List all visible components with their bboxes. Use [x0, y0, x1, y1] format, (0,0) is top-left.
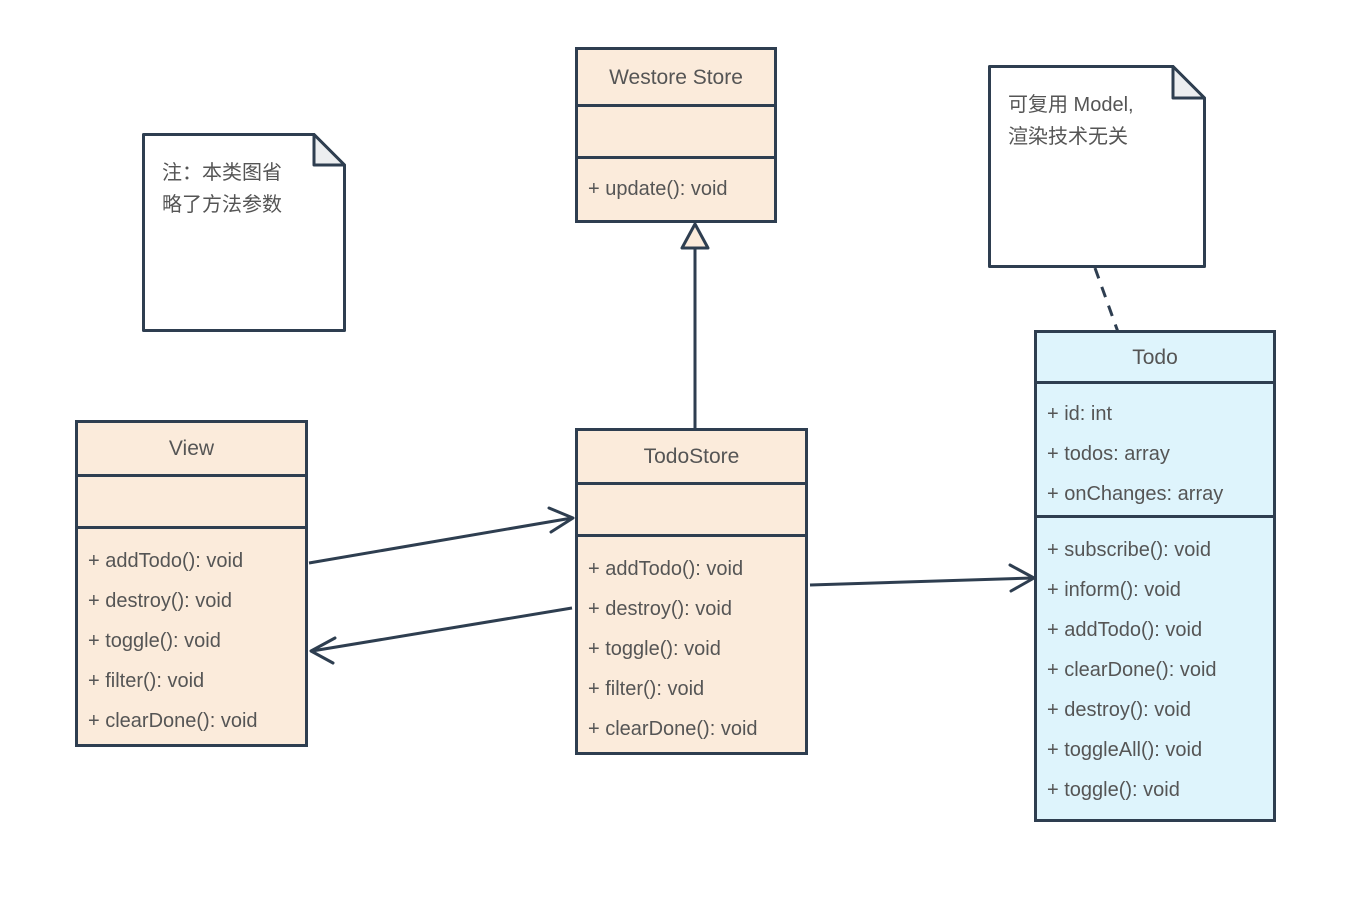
method-item: + addTodo(): void: [88, 541, 305, 581]
note-left-text: 注：本类图省 略了方法参数: [162, 157, 332, 221]
method-list: + addTodo(): void + destroy(): void + to…: [78, 529, 305, 753]
method-item: + toggleAll(): void: [1047, 730, 1273, 770]
open-arrowhead: [549, 508, 573, 532]
class-title-todostore: TodoStore: [578, 431, 805, 485]
class-title-todo: Todo: [1037, 333, 1273, 384]
class-box-westore-store[interactable]: Westore Store + update(): void: [575, 47, 777, 223]
diagram-canvas: 注：本类图省 略了方法参数 可复用 Model, 渲染技术无关 Westore …: [0, 0, 1358, 900]
class-methods-westore-store: + update(): void: [578, 159, 774, 220]
method-item: + subscribe(): void: [1047, 530, 1273, 570]
method-list: + addTodo(): void + destroy(): void + to…: [578, 537, 805, 761]
class-title-view: View: [78, 423, 305, 477]
class-attributes-view: [78, 477, 305, 529]
method-item: + inform(): void: [1047, 570, 1273, 610]
method-item: + filter(): void: [88, 661, 305, 701]
note-right-text: 可复用 Model, 渲染技术无关: [1008, 89, 1192, 153]
connector-todostore-to-todo: [810, 565, 1034, 591]
class-attributes-westore-store: [578, 107, 774, 159]
method-item: + destroy(): void: [88, 581, 305, 621]
note-left: 注：本类图省 略了方法参数: [142, 133, 346, 332]
method-item: + addTodo(): void: [1047, 610, 1273, 650]
connector-generalization-todostore-westore: [682, 224, 708, 428]
attribute-item: + todos: array: [1047, 434, 1273, 474]
method-item: + toggle(): void: [1047, 770, 1273, 810]
method-list: + update(): void: [578, 159, 774, 221]
method-list: + subscribe(): void + inform(): void + a…: [1037, 518, 1273, 822]
method-item: + clearDone(): void: [88, 701, 305, 741]
attribute-list: + id: int + todos: array + onChanges: ar…: [1037, 384, 1273, 526]
class-box-todo[interactable]: Todo + id: int + todos: array + onChange…: [1034, 330, 1276, 822]
class-methods-todostore: + addTodo(): void + destroy(): void + to…: [578, 537, 805, 752]
attribute-item: + id: int: [1047, 394, 1273, 434]
open-arrowhead: [311, 638, 335, 663]
class-attributes-todostore: [578, 485, 805, 537]
method-item: + clearDone(): void: [1047, 650, 1273, 690]
method-item: + addTodo(): void: [588, 549, 805, 589]
method-item: + filter(): void: [588, 669, 805, 709]
method-item: + toggle(): void: [588, 629, 805, 669]
method-item: + destroy(): void: [1047, 690, 1273, 730]
note-right: 可复用 Model, 渲染技术无关: [988, 65, 1206, 268]
hollow-triangle-arrowhead: [682, 224, 708, 248]
class-box-view[interactable]: View + addTodo(): void + destroy(): void…: [75, 420, 308, 747]
class-box-todostore[interactable]: TodoStore + addTodo(): void + destroy():…: [575, 428, 808, 755]
class-methods-view: + addTodo(): void + destroy(): void + to…: [78, 529, 305, 744]
class-attributes-todo: + id: int + todos: array + onChanges: ar…: [1037, 384, 1273, 518]
method-item: + update(): void: [588, 169, 774, 209]
connector-note-to-todo: [1095, 268, 1118, 332]
method-item: + clearDone(): void: [588, 709, 805, 749]
connector-view-to-todostore: [309, 508, 573, 563]
open-arrowhead: [1010, 565, 1034, 591]
class-title-westore-store: Westore Store: [578, 50, 774, 107]
attribute-item: + onChanges: array: [1047, 474, 1273, 514]
method-item: + destroy(): void: [588, 589, 805, 629]
connector-todostore-to-view: [311, 608, 572, 663]
method-item: + toggle(): void: [88, 621, 305, 661]
class-methods-todo: + subscribe(): void + inform(): void + a…: [1037, 518, 1273, 819]
